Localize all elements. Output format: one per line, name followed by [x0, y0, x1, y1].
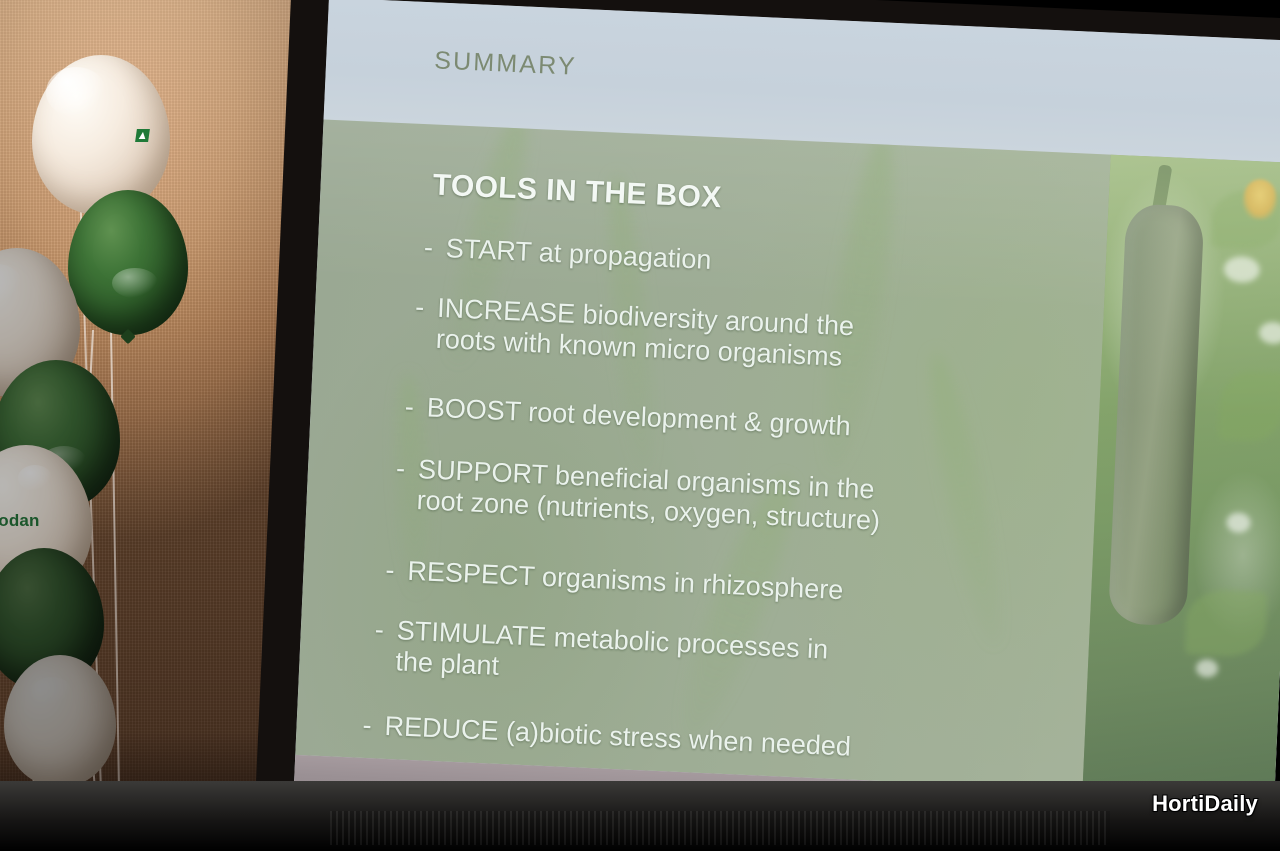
- bullet-text: STIMULATE metabolic processes in the pla…: [395, 615, 1015, 704]
- bullet-item: - BOOST root development & growth: [404, 391, 1045, 450]
- grodan-logo: Grodan: [0, 511, 40, 531]
- bullet-item: - INCREASE biodiversity around the roots…: [413, 292, 1055, 382]
- balloon-highlight: [0, 264, 22, 304]
- balloon-highlight: [46, 67, 106, 117]
- bullet-text: INCREASE biodiversity around the roots w…: [435, 293, 1055, 382]
- slide-body: TOOLS IN THE BOX - START at propagation …: [295, 120, 1280, 799]
- bullet-item: - RESPECT organisms in rhizosphere: [385, 555, 1026, 614]
- bullet-dash: -: [385, 555, 395, 586]
- bullet-text: SUPPORT beneficial organisms in the root…: [416, 454, 1056, 544]
- grodan-logo-icon: [135, 129, 150, 142]
- bullet-text: BOOST root development & growth: [426, 392, 1045, 450]
- bullet-dash: -: [374, 614, 384, 645]
- balloon-highlight: [32, 677, 72, 705]
- bullet-item: - STIMULATE metabolic processes in the p…: [373, 614, 1015, 704]
- bullet-dash: -: [415, 292, 425, 323]
- projector-screen: SUMMARY: [255, 0, 1280, 851]
- bullet-dash: -: [395, 453, 405, 484]
- slide-heading: TOOLS IN THE BOX: [432, 168, 722, 215]
- bullet-text: REDUCE (a)biotic stress when needed: [384, 711, 1023, 770]
- bullet-dash: -: [423, 232, 433, 263]
- watermark: HortiDaily: [1152, 791, 1258, 817]
- bullet-text: START at propagation: [445, 233, 1064, 291]
- bullet-item: - SUPPORT beneficial organisms in the ro…: [394, 453, 1056, 544]
- screen-surface: SUMMARY: [294, 0, 1280, 832]
- balloon-highlight: [112, 268, 158, 298]
- balloon-white: [4, 655, 116, 787]
- photo-scene: Grodan SUMMARY: [0, 0, 1280, 851]
- balloon-white: [32, 55, 170, 215]
- grodan-logo-text: Grodan: [0, 511, 40, 531]
- balloon-highlight: [18, 465, 52, 491]
- bullet-item: - REDUCE (a)biotic stress when needed: [362, 710, 1023, 770]
- slide-bullet-list: TOOLS IN THE BOX - START at propagation …: [295, 120, 1280, 799]
- grodan-logo-mark: [136, 129, 149, 142]
- bullet-dash: -: [404, 391, 414, 422]
- bullet-text: RESPECT organisms in rhizosphere: [407, 556, 1026, 614]
- balloon-green: [68, 190, 188, 335]
- bullet-item: - START at propagation: [423, 232, 1064, 291]
- bullet-dash: -: [362, 710, 372, 741]
- floor-grill: [330, 811, 1110, 845]
